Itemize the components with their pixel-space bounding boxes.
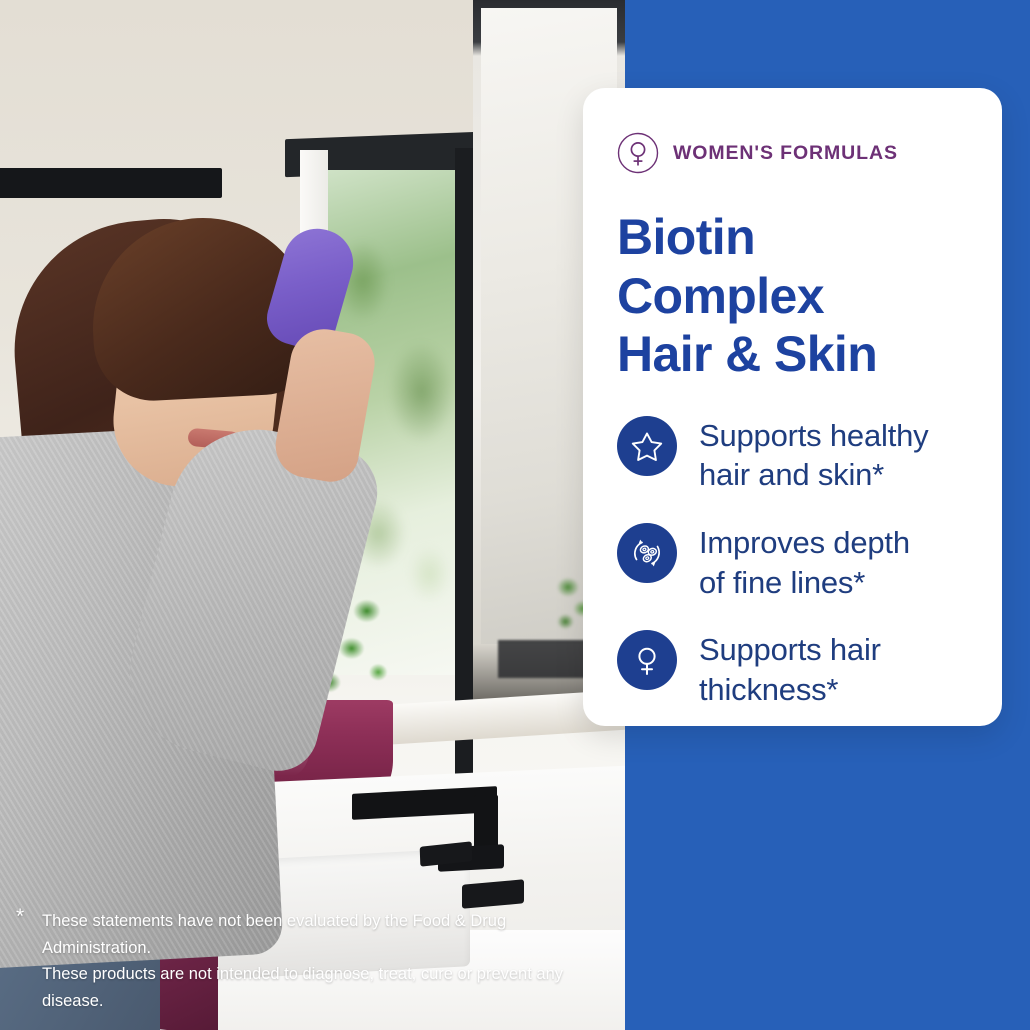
benefit-text: Supports hairthickness*: [699, 628, 881, 709]
benefit-line-1: Supports hair: [699, 632, 881, 667]
headline-line-1: Biotin Complex: [617, 208, 968, 325]
photo-window-frame-left: [0, 168, 222, 198]
disclaimer-line-2: These products are not intended to diagn…: [42, 961, 616, 1014]
benefit-item-supports-healthy-hair-and-skin: Supports healthyhair and skin*: [617, 414, 968, 495]
disclaimer-line-1: These statements have not been evaluated…: [42, 908, 616, 961]
benefit-line-1: Supports healthy: [699, 418, 928, 453]
benefit-line-2: thickness*: [699, 672, 838, 707]
lifestyle-photo: [0, 0, 625, 1030]
venus-symbol-icon: [617, 132, 659, 174]
benefit-text: Improves depthof fine lines*: [699, 521, 910, 602]
promo-banner: WOMEN'S FORMULAS Biotin Complex Hair & S…: [0, 0, 1030, 1030]
eyebrow-label: WOMEN'S FORMULAS: [673, 142, 898, 165]
benefit-item-supports-hair-thickness: Supports hairthickness*: [617, 628, 968, 709]
eyebrow-row: WOMEN'S FORMULAS: [617, 132, 968, 174]
venus-symbol-icon: [617, 630, 677, 690]
benefit-line-2: hair and skin*: [699, 457, 884, 492]
cell-renewal-icon: [617, 523, 677, 583]
benefit-line-2: of fine lines*: [699, 565, 865, 600]
benefit-item-improves-depth-of-fine-lines: Improves depthof fine lines*: [617, 521, 968, 602]
benefits-list: Supports healthyhair and skin*: [617, 414, 968, 710]
product-feature-card: WOMEN'S FORMULAS Biotin Complex Hair & S…: [583, 88, 1002, 726]
benefit-text: Supports healthyhair and skin*: [699, 414, 928, 495]
disclaimer-asterisk: *: [16, 906, 24, 927]
benefit-line-1: Improves depth: [699, 525, 910, 560]
star-icon: [617, 416, 677, 476]
headline-line-2: Hair & Skin: [617, 325, 968, 384]
legal-disclaimer: * These statements have not been evaluat…: [16, 908, 616, 1014]
page-title: Biotin Complex Hair & Skin: [617, 208, 968, 384]
